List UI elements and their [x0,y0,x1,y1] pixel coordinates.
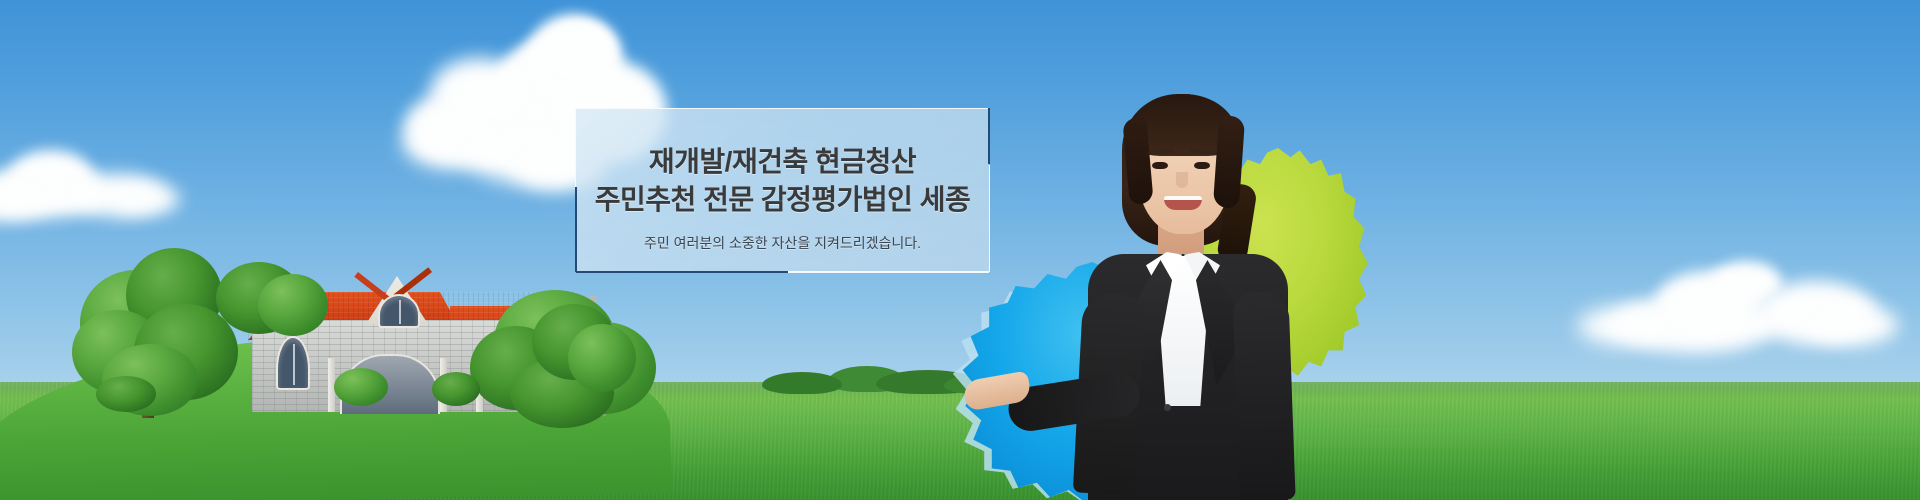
presenter-woman [1060,88,1320,500]
shrub-right [432,372,480,408]
cloud-left [0,140,180,230]
nose [1176,172,1188,188]
panel-accent-bottom-right [788,271,989,273]
promo-banner[interactable]: 재개발/재건축 현금청산 주민추천 전문 감정평가법인 세종 주민 여러분의 소… [0,0,1920,500]
panel-accent-bottom [576,271,788,273]
shrub-foliage [432,372,480,406]
eye-left [1152,162,1168,169]
headline-line-2: 주민추천 전문 감정평가법인 세종 [576,183,989,217]
panel-accent-right-lower [989,165,990,272]
panel-subtitle: 주민 여러분의 소중한 자산을 지켜드리겠습니다. [576,233,989,253]
headline-line-1: 재개발/재건축 현금청산 [576,145,989,179]
shrub-near-porch [334,368,388,408]
tree-foliage [258,274,328,336]
tree-far-right-house [528,300,638,410]
distant-treeline-4 [762,372,842,394]
cloud-right [1570,255,1900,375]
arm-left [1232,291,1295,500]
shrub-foliage [96,376,156,412]
dormer-window [378,294,420,328]
shrub-foliage [334,368,388,406]
tree-behind-house [210,256,330,356]
shrub-left [96,376,156,414]
mouth-smile [1164,196,1202,210]
eye-right [1194,162,1210,169]
jacket-button [1164,404,1171,411]
tree-foliage [568,324,636,392]
promo-text-panel[interactable]: 재개발/재건축 현금청산 주민추천 전문 감정평가법인 세종 주민 여러분의 소… [575,108,989,272]
